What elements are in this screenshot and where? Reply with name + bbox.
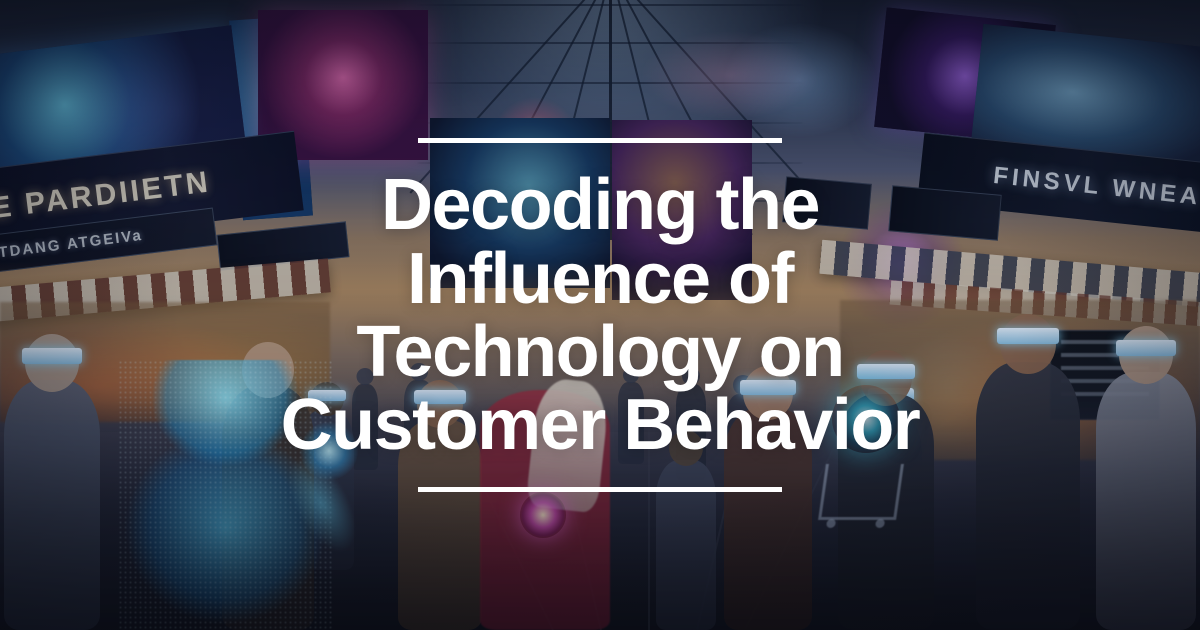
page-title-line-3: Technology on (281, 316, 920, 389)
title-overlay: Decoding the Influence of Technology on … (0, 0, 1200, 630)
hero-banner: E PARDIIETN CTDANG ATGEIVa FINSVL WNEA (0, 0, 1200, 630)
page-title-line-2: Influence of (281, 243, 920, 316)
page-title-line-4: Customer Behavior (281, 389, 920, 462)
page-title-line-1: Decoding the (281, 169, 920, 242)
bottom-divider-rule (418, 487, 782, 492)
top-divider-rule (418, 138, 782, 143)
page-title: Decoding the Influence of Technology on … (281, 169, 920, 463)
